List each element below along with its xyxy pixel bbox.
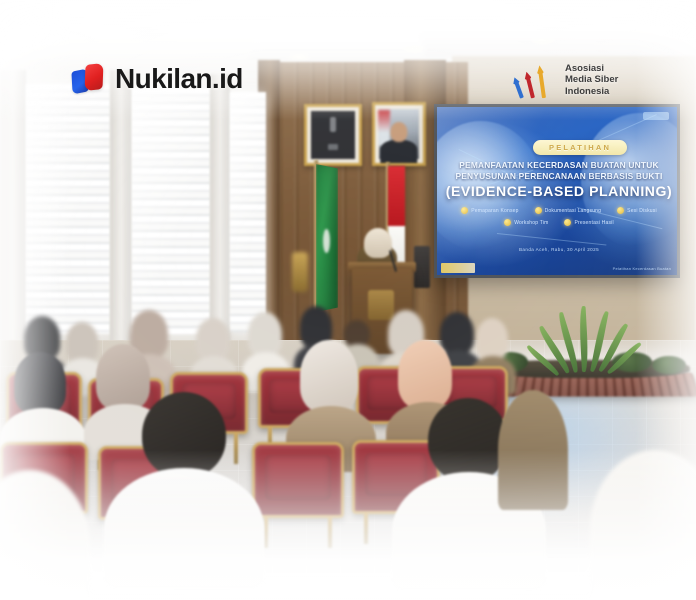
nukilan-logo: Nukilan.id bbox=[72, 64, 243, 94]
amsi-line-1: Asosiasi bbox=[565, 63, 618, 75]
plaque-detail bbox=[330, 117, 336, 132]
shoulders bbox=[104, 468, 264, 588]
official-portrait bbox=[372, 102, 426, 166]
ceiling-beam-secondary bbox=[415, 18, 696, 58]
headscarf bbox=[440, 312, 474, 354]
amsi-wordmark: Asosiasi Media Siber Indonesia bbox=[565, 63, 618, 98]
aceh-flag bbox=[316, 164, 338, 312]
arrow-head bbox=[535, 65, 544, 75]
chair-back bbox=[252, 442, 344, 518]
chair-leg bbox=[364, 514, 368, 544]
stage-ornament bbox=[292, 252, 308, 292]
photo-canvas: PELATIHAN PEMANFAATAN KECERDASAN BUATAN … bbox=[0, 0, 696, 600]
podium-emblem bbox=[368, 290, 394, 320]
screen-glare bbox=[437, 107, 677, 275]
nukilan-wordmark: Nukilan.id bbox=[115, 65, 243, 93]
screen-surface: PELATIHAN PEMANFAATAN KECERDASAN BUATAN … bbox=[437, 107, 677, 275]
chair-leg bbox=[234, 434, 238, 464]
ceiling-downlight bbox=[402, 44, 428, 54]
headscarf bbox=[14, 352, 66, 414]
window-frame bbox=[110, 70, 132, 342]
headscarf bbox=[66, 322, 98, 362]
head bbox=[142, 392, 226, 478]
portrait-face bbox=[390, 122, 407, 142]
plaque-detail bbox=[328, 144, 338, 150]
nukilan-mark-icon bbox=[72, 64, 106, 94]
window-blinds bbox=[26, 84, 110, 334]
amsi-logo: Asosiasi Media Siber Indonesia bbox=[518, 60, 618, 100]
window-glow bbox=[132, 88, 210, 334]
flag-emblem bbox=[323, 229, 330, 253]
headscarf bbox=[196, 318, 230, 360]
audience-chair bbox=[252, 442, 344, 518]
headscarf bbox=[300, 340, 358, 412]
head bbox=[428, 398, 508, 482]
arrow-yellow-icon bbox=[535, 65, 548, 99]
flag-stripe-red bbox=[388, 166, 405, 226]
stage-speaker-box bbox=[414, 246, 430, 288]
window-frame bbox=[210, 74, 230, 342]
window-frame bbox=[0, 70, 26, 340]
window-glow bbox=[26, 84, 110, 334]
chair-leg bbox=[328, 518, 332, 548]
chair-leg bbox=[264, 518, 268, 548]
amsi-arrows-icon bbox=[518, 60, 558, 100]
logo-shape-red bbox=[85, 63, 104, 91]
projection-screen: PELATIHAN PEMANFAATAN KECERDASAN BUATAN … bbox=[434, 104, 680, 278]
window-glow bbox=[230, 92, 266, 332]
arrow-stem bbox=[538, 71, 546, 98]
window-blinds bbox=[132, 88, 210, 334]
ceiling-downlight bbox=[530, 36, 556, 46]
portrait-suit bbox=[380, 140, 417, 163]
shoulders bbox=[498, 390, 568, 510]
headscarf bbox=[398, 340, 452, 408]
headscarf bbox=[248, 312, 282, 356]
chair-pad bbox=[265, 455, 330, 500]
amsi-line-3: Indonesia bbox=[565, 86, 618, 98]
headscarf bbox=[96, 344, 150, 410]
window-blinds bbox=[230, 92, 266, 332]
arrow-head bbox=[523, 71, 533, 81]
presenter-headscarf bbox=[364, 228, 392, 258]
headscarf bbox=[476, 318, 508, 360]
amsi-line-2: Media Siber bbox=[565, 74, 618, 86]
framed-plaque bbox=[304, 104, 362, 166]
shrub bbox=[652, 356, 686, 374]
frame-mat bbox=[307, 107, 359, 163]
